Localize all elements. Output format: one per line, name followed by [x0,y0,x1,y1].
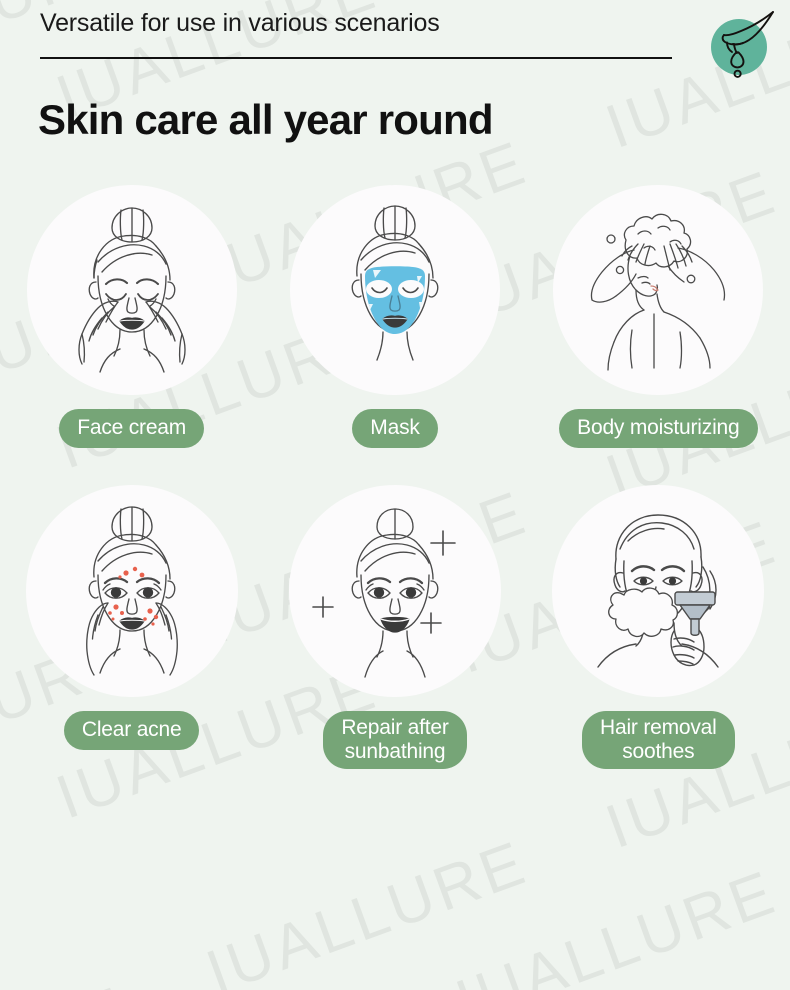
woman-smiling-sparkles-icon [289,485,501,697]
scenario-card-face-cream[interactable]: Face cream [0,185,263,485]
scenario-card-clear-acne[interactable]: Clear acne [0,485,263,785]
shaving-foam [609,588,678,636]
scenario-card-mask[interactable]: Mask [263,185,526,485]
scenario-label-face-cream[interactable]: Face cream [59,409,204,448]
page-title: Skin care all year round [38,96,493,144]
woman-with-acne-spots-icon [26,485,238,697]
aloe-leaf-drop-icon [703,8,777,82]
person-washing-hair-icon [553,185,763,395]
scenario-card-repair-after-sunbathing[interactable]: Repair after sunbathing [263,485,526,785]
woman-applying-face-cream-icon [27,185,237,395]
scenario-card-hair-removal-soothes[interactable]: Hair removal soothes [527,485,790,785]
scenario-label-repair-after-sunbathing[interactable]: Repair after sunbathing [323,711,466,769]
scenario-label-body-moisturizing[interactable]: Body moisturizing [559,409,757,448]
scenario-grid: Face cream [0,185,790,785]
header-divider [40,57,672,59]
man-shaving-razor-icon [552,485,764,697]
razor-tool [675,592,715,635]
scenario-label-clear-acne[interactable]: Clear acne [64,711,200,750]
scenario-label-mask[interactable]: Mask [352,409,437,448]
scenario-card-body-moisturizing[interactable]: Body moisturizing [527,185,790,485]
header-eyebrow-text: Versatile for use in various scenarios [40,9,440,38]
scenario-label-hair-removal-soothes[interactable]: Hair removal soothes [582,711,735,769]
woman-wearing-sheet-mask-icon [290,185,500,395]
